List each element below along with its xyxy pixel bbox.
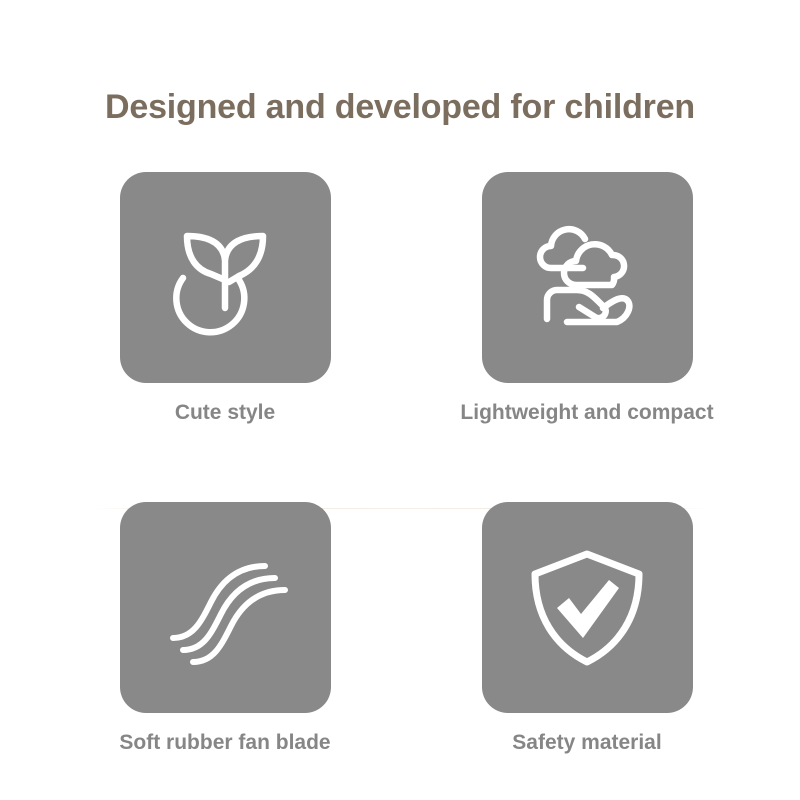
feature-card-cute-style: Cute style bbox=[75, 172, 375, 427]
feature-card-lightweight: Lightweight and compact bbox=[437, 172, 737, 427]
feature-icon-tile bbox=[120, 502, 331, 713]
feature-label: Soft rubber fan blade bbox=[75, 729, 375, 757]
feature-label: Cute style bbox=[75, 399, 375, 427]
feature-icon-tile bbox=[482, 502, 693, 713]
feature-grid: Cute style Lightweig bbox=[0, 0, 800, 800]
feature-card-safety: Safety material bbox=[437, 502, 737, 757]
feature-card-soft-blade: Soft rubber fan blade bbox=[75, 502, 375, 757]
feature-icon-tile bbox=[120, 172, 331, 383]
wavy-lines-icon bbox=[159, 542, 291, 674]
cloud-in-hand-icon bbox=[521, 212, 653, 344]
shield-check-icon bbox=[521, 542, 653, 674]
feature-label: Safety material bbox=[437, 729, 737, 757]
feature-highlight-page: Designed and developed for children bbox=[0, 0, 800, 800]
sprout-icon bbox=[159, 212, 291, 344]
feature-label: Lightweight and compact bbox=[437, 399, 737, 427]
feature-icon-tile bbox=[482, 172, 693, 383]
